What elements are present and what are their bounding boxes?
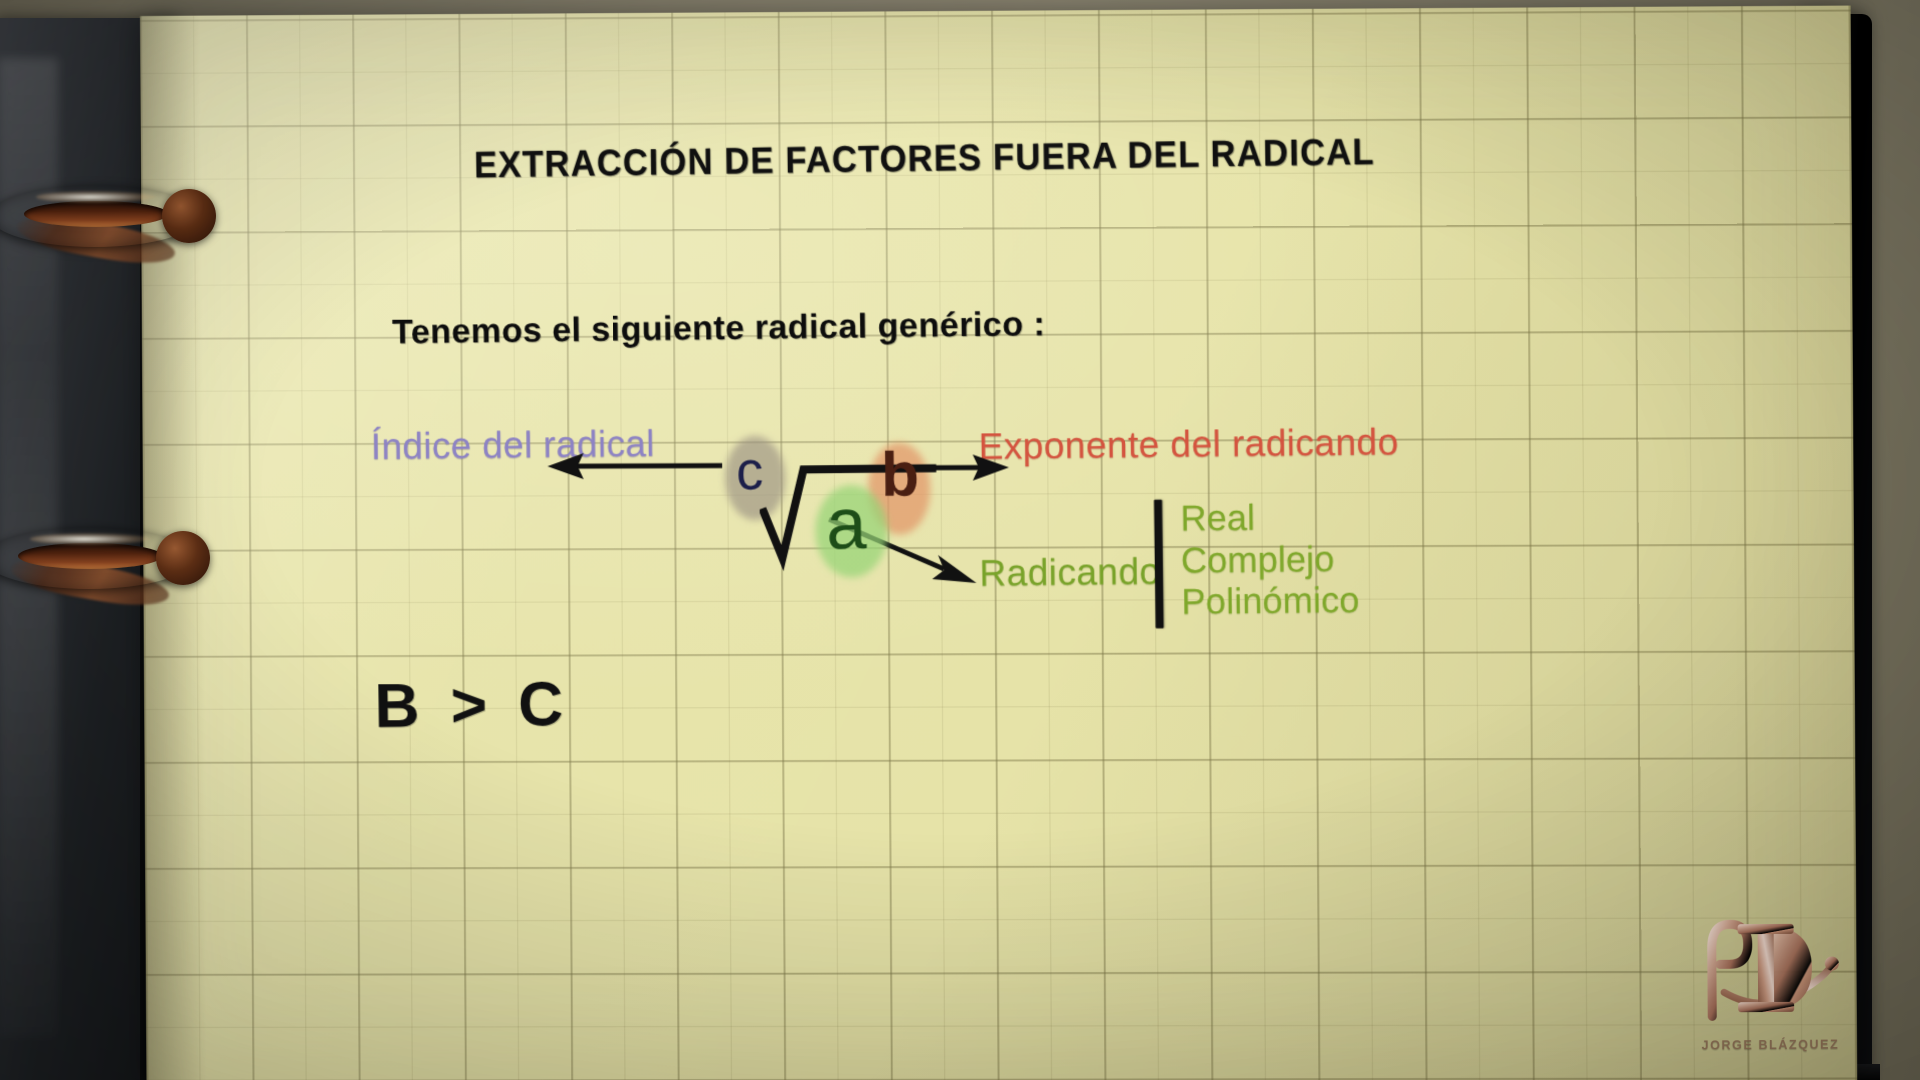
list-item: Real xyxy=(1180,497,1358,538)
radicand-kinds-list: Real Complejo Polinómico xyxy=(1180,497,1359,621)
grid-paper-page: EXTRACCIÓN DE FACTORES FUERA DEL RADICAL… xyxy=(140,6,1857,1080)
glyph-index-c: c xyxy=(736,440,764,502)
cover-sheen xyxy=(0,58,58,1038)
slide-scene: EXTRACCIÓN DE FACTORES FUERA DEL RADICAL… xyxy=(0,0,1920,1080)
author-logo-icon: JORGE BLÁZQUEZ xyxy=(1679,907,1860,1058)
label-exponente-del-radicando: Exponente del radicando xyxy=(978,421,1399,468)
list-item: Complejo xyxy=(1181,539,1359,580)
condition-b-greater-than-c: B > C xyxy=(374,669,571,742)
radical-diagram: Índice del radical Exponente del radican… xyxy=(140,6,1857,1080)
glyph-exponent-b: b xyxy=(880,439,919,511)
radicand-kinds-group: Real Complejo Polinómico xyxy=(1154,497,1360,628)
label-radicando: Radicando xyxy=(979,551,1161,595)
glyph-radicand-a: a xyxy=(826,483,867,566)
arrow-left-icon xyxy=(543,446,724,487)
list-item: Polinómico xyxy=(1181,581,1359,622)
logo-monogram xyxy=(1679,907,1860,1026)
radical-expression: c a b xyxy=(718,411,982,594)
logo-author-name: JORGE BLÁZQUEZ xyxy=(1680,1037,1860,1052)
vertical-bar-divider xyxy=(1154,500,1164,629)
